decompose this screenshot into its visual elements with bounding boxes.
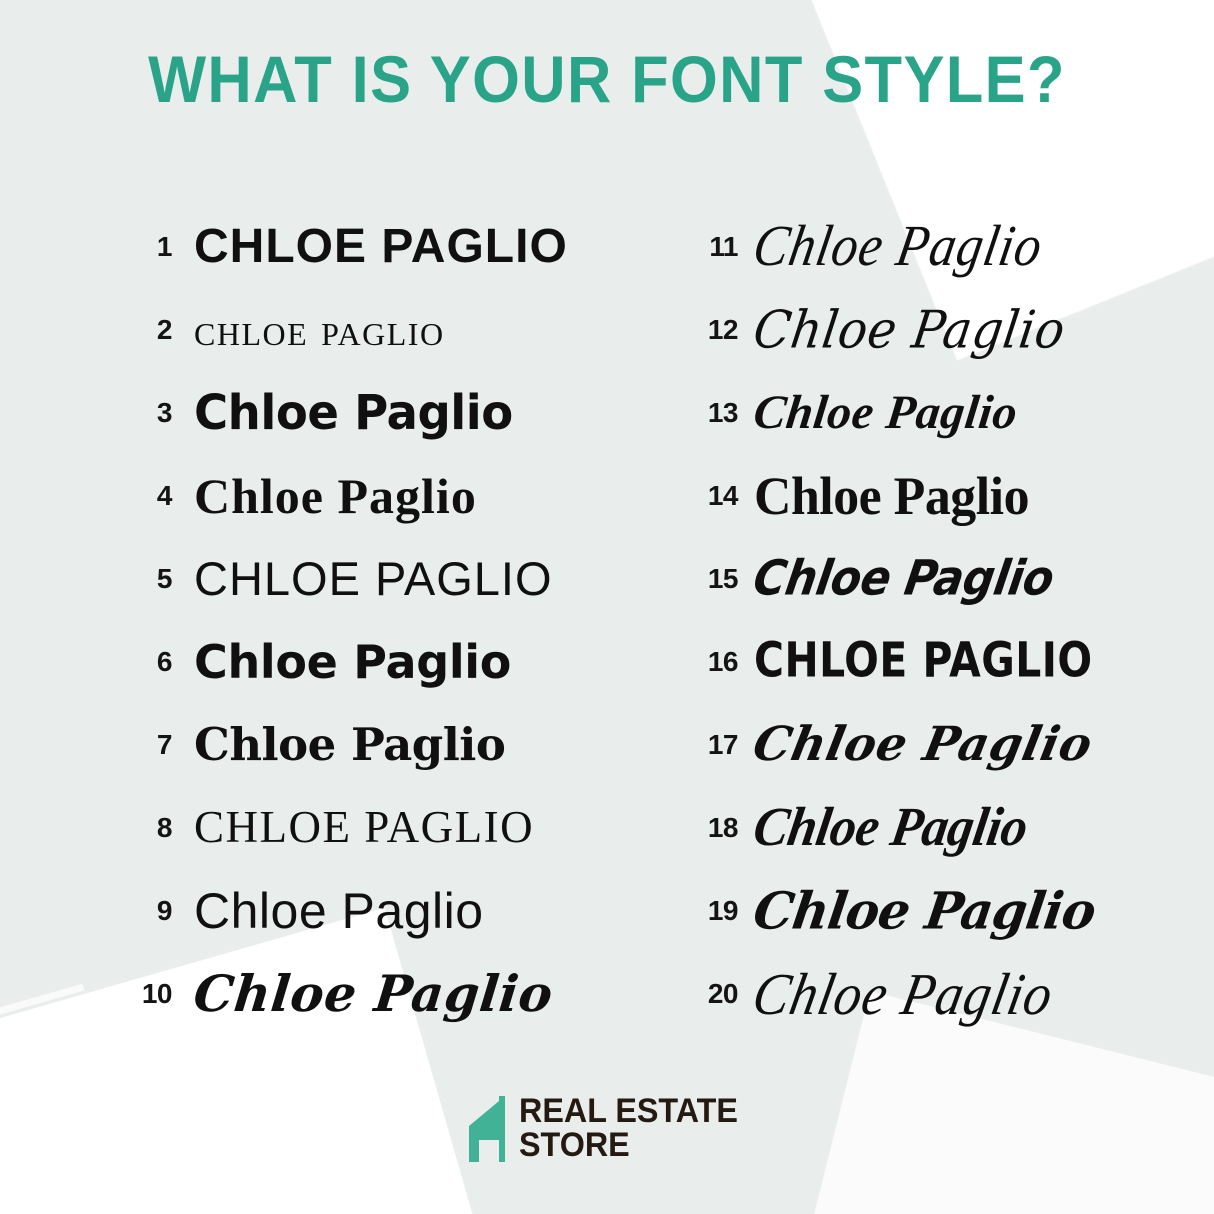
font-sample-text: Chloe Paglio [194, 471, 598, 521]
font-sample-number: 18 [692, 814, 738, 842]
font-sample-row-12[interactable]: 12 Chloe Paglio [692, 288, 1112, 371]
font-sample-row-7[interactable]: 7 Chloe Paglio [128, 703, 598, 786]
font-sample-text: Chloe Paglio [751, 389, 1115, 437]
font-sample-column-left: 1 Chloe Paglio 2 Chloe Paglio 3 Chloe Pa… [128, 205, 598, 1045]
font-sample-number: 1 [128, 233, 172, 261]
font-sample-text: Chloe Paglio [749, 721, 1116, 768]
font-sample-row-3[interactable]: 3 Chloe Paglio [128, 371, 598, 454]
font-sample-text: Chloe Paglio [194, 639, 598, 685]
font-sample-number: 8 [128, 814, 172, 842]
font-sample-row-4[interactable]: 4 Chloe Paglio [128, 454, 598, 537]
font-sample-row-20[interactable]: 20 Chloe Paglio [692, 952, 1112, 1035]
font-sample-text: Chloe Paglio [194, 722, 598, 767]
font-sample-text: Chloe Paglio [194, 805, 598, 850]
font-sample-row-15[interactable]: 15 Chloe Paglio [692, 537, 1112, 620]
font-sample-text: Chloe Paglio [749, 217, 1117, 275]
font-sample-row-17[interactable]: 17 Chloe Paglio [692, 703, 1112, 786]
font-sample-number: 4 [128, 482, 172, 510]
font-sample-text: Chloe Paglio [194, 223, 598, 271]
page-title: WHAT IS YOUR FONT STYLE? [42, 46, 1171, 112]
font-sample-text: Chloe Paglio [750, 885, 1115, 936]
font-sample-text: Chloe Paglio [194, 389, 586, 437]
font-sample-number: 9 [128, 897, 172, 925]
font-sample-number: 2 [128, 316, 172, 344]
font-sample-row-9[interactable]: 9 Chloe Paglio [128, 869, 598, 952]
font-sample-number: 20 [692, 980, 738, 1008]
font-sample-text: Chloe Paglio [748, 964, 1118, 1023]
font-sample-text: Chloe Paglio [750, 554, 1116, 602]
font-sample-number: 5 [128, 565, 172, 593]
font-sample-row-19[interactable]: 19 Chloe Paglio [692, 869, 1112, 952]
font-sample-number: 15 [692, 565, 738, 593]
font-sample-number: 11 [692, 233, 738, 261]
font-sample-number: 13 [692, 399, 738, 427]
brand-logo-line-2: STORE [519, 1129, 738, 1162]
poster-canvas: WHAT IS YOUR FONT STYLE? 1 Chloe Paglio … [0, 0, 1214, 1214]
house-roof-icon [465, 1096, 509, 1162]
font-sample-row-10[interactable]: 10 Chloe Paglio [128, 952, 598, 1035]
font-sample-number: 3 [128, 399, 172, 427]
font-sample-row-8[interactable]: 8 Chloe Paglio [128, 786, 598, 869]
font-sample-number: 19 [692, 897, 738, 925]
font-sample-list: 1 Chloe Paglio 2 Chloe Paglio 3 Chloe Pa… [0, 205, 1214, 1045]
font-sample-number: 12 [692, 316, 738, 344]
font-sample-number: 14 [692, 482, 738, 510]
font-sample-text: Chloe Paglio [194, 555, 598, 602]
font-sample-column-right: 11 Chloe Paglio 12 Chloe Paglio 13 Chloe… [692, 205, 1112, 1045]
font-sample-number: 16 [692, 648, 738, 676]
font-sample-text: Chloe Paglio [750, 800, 1117, 855]
font-sample-text: Chloe Paglio [194, 886, 598, 936]
font-sample-number: 17 [692, 731, 738, 759]
font-sample-number: 7 [128, 731, 172, 759]
font-sample-number: 10 [128, 980, 172, 1008]
brand-logo-text: REAL ESTATE STORE [519, 1095, 749, 1162]
font-sample-row-1[interactable]: 1 Chloe Paglio [128, 205, 598, 288]
font-sample-text: Chloe Paglio [754, 469, 1098, 523]
font-sample-text: Chloe Paglio [191, 969, 600, 1019]
font-sample-number: 6 [128, 648, 172, 676]
font-sample-text: Chloe Paglio [194, 307, 598, 353]
font-sample-row-16[interactable]: 16 Chloe Paglio [692, 620, 1112, 703]
font-sample-row-6[interactable]: 6 Chloe Paglio [128, 620, 598, 703]
font-sample-row-2[interactable]: 2 Chloe Paglio [128, 288, 598, 371]
font-sample-text: Chloe Paglio [754, 637, 1094, 685]
font-sample-row-14[interactable]: 14 Chloe Paglio [692, 454, 1112, 537]
brand-logo: REAL ESTATE STORE [0, 1095, 1214, 1162]
font-sample-row-18[interactable]: 18 Chloe Paglio [692, 786, 1112, 869]
brand-logo-line-1: REAL ESTATE [519, 1095, 738, 1128]
font-sample-row-11[interactable]: 11 Chloe Paglio [692, 205, 1112, 288]
brand-logo-inner: REAL ESTATE STORE [465, 1095, 749, 1162]
font-sample-row-5[interactable]: 5 Chloe Paglio [128, 537, 598, 620]
font-sample-text: Chloe Paglio [750, 304, 1115, 356]
font-sample-row-13[interactable]: 13 Chloe Paglio [692, 371, 1112, 454]
